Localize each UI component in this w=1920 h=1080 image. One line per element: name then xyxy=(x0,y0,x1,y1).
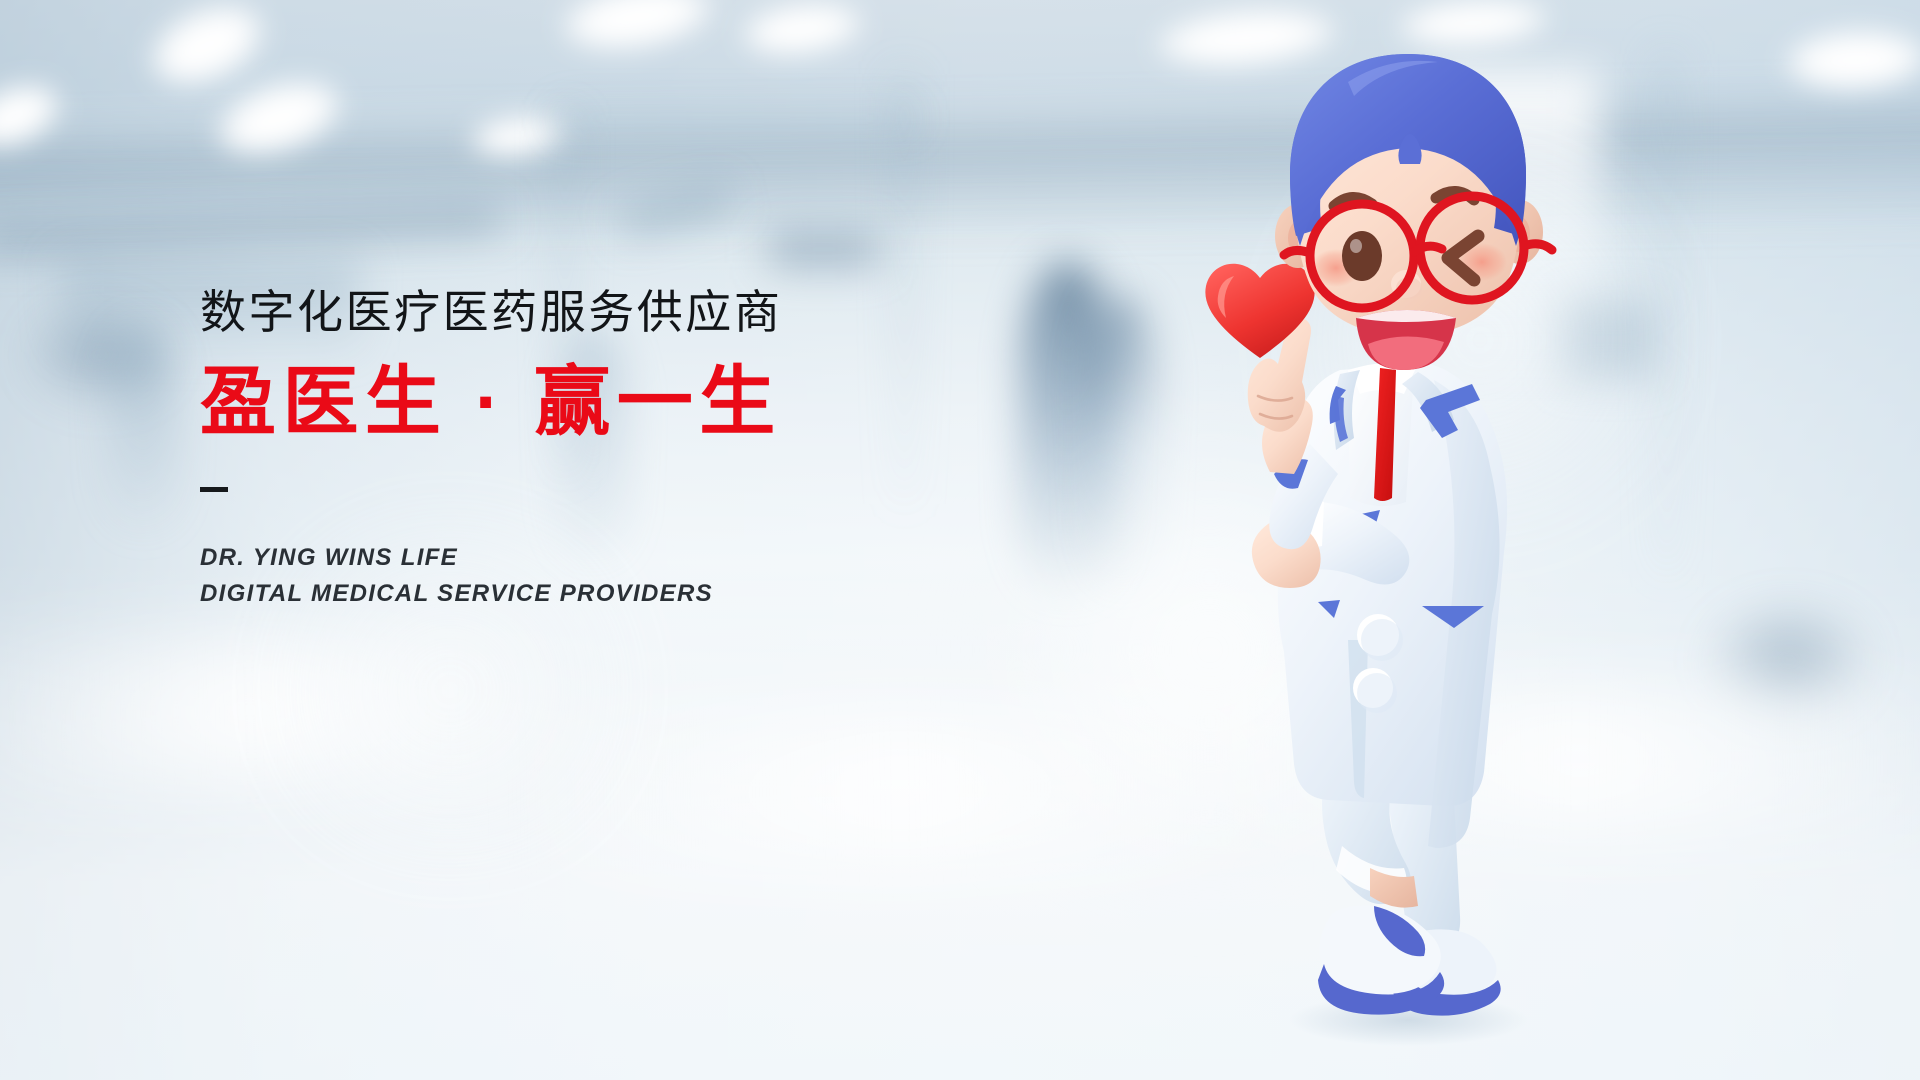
hero-headline: 盈医生 · 赢一生 xyxy=(200,363,960,443)
dr-ying-mascot xyxy=(1190,40,1620,1050)
mascot-coat-button-upper-shade xyxy=(1361,619,1403,661)
mascot-coat-button-lower-shade xyxy=(1357,673,1397,713)
blurred-wall-frame xyxy=(560,114,912,123)
glasses-temple-left xyxy=(1284,250,1310,255)
mascot-eye-highlight xyxy=(1350,239,1362,253)
tagline-line-2: DIGITAL MEDICAL SERVICE PROVIDERS xyxy=(200,576,960,612)
hero-tagline-english: DR. YING WINS LIFE DIGITAL MEDICAL SERVI… xyxy=(200,540,960,613)
blurred-person-silhouette xyxy=(108,330,178,530)
hero-subheading: 数字化医疗医药服务供应商 xyxy=(200,288,960,337)
hero-copy-block: 数字化医疗医药服务供应商 盈医生 · 赢一生 DR. YING WINS LIF… xyxy=(200,288,960,612)
hero-divider-rule xyxy=(200,487,228,492)
tagline-line-1: DR. YING WINS LIFE xyxy=(200,540,960,576)
blurred-signage xyxy=(770,232,878,266)
blurred-window-frame xyxy=(1660,54,1674,574)
mascot-eye-open xyxy=(1342,231,1382,281)
hero-banner: 数字化医疗医药服务供应商 盈医生 · 赢一生 DR. YING WINS LIF… xyxy=(0,0,1920,1080)
